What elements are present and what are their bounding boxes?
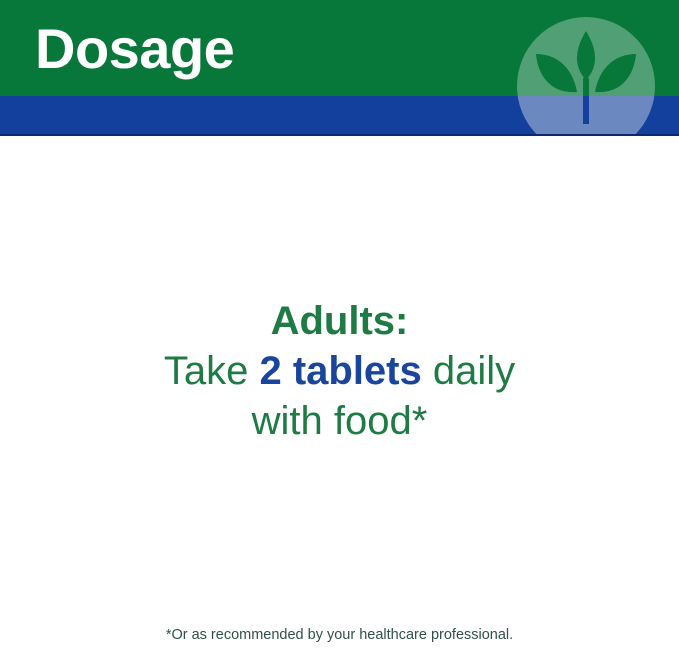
footnote-text: *Or as recommended by your healthcare pr… bbox=[0, 626, 679, 645]
banner-bottom-rule bbox=[0, 134, 679, 136]
dosage-directions-line: Take 2 tablets daily bbox=[0, 346, 679, 396]
dosage-directions-suffix: daily bbox=[422, 349, 515, 393]
dosage-instructions: Adults: Take 2 tablets daily with food* bbox=[0, 296, 679, 446]
dosage-audience-heading: Adults: bbox=[0, 296, 679, 346]
dosage-directions-line-2: with food* bbox=[0, 396, 679, 446]
dosage-info-panel: Dosage Adults: Take 2 tablets daily with… bbox=[0, 0, 679, 652]
header-banner: Dosage bbox=[0, 0, 679, 136]
page-title: Dosage bbox=[35, 18, 234, 80]
dosage-directions-prefix: Take bbox=[164, 349, 260, 393]
dosage-amount-highlight: 2 tablets bbox=[259, 349, 421, 393]
banner-blue-band bbox=[0, 96, 679, 134]
